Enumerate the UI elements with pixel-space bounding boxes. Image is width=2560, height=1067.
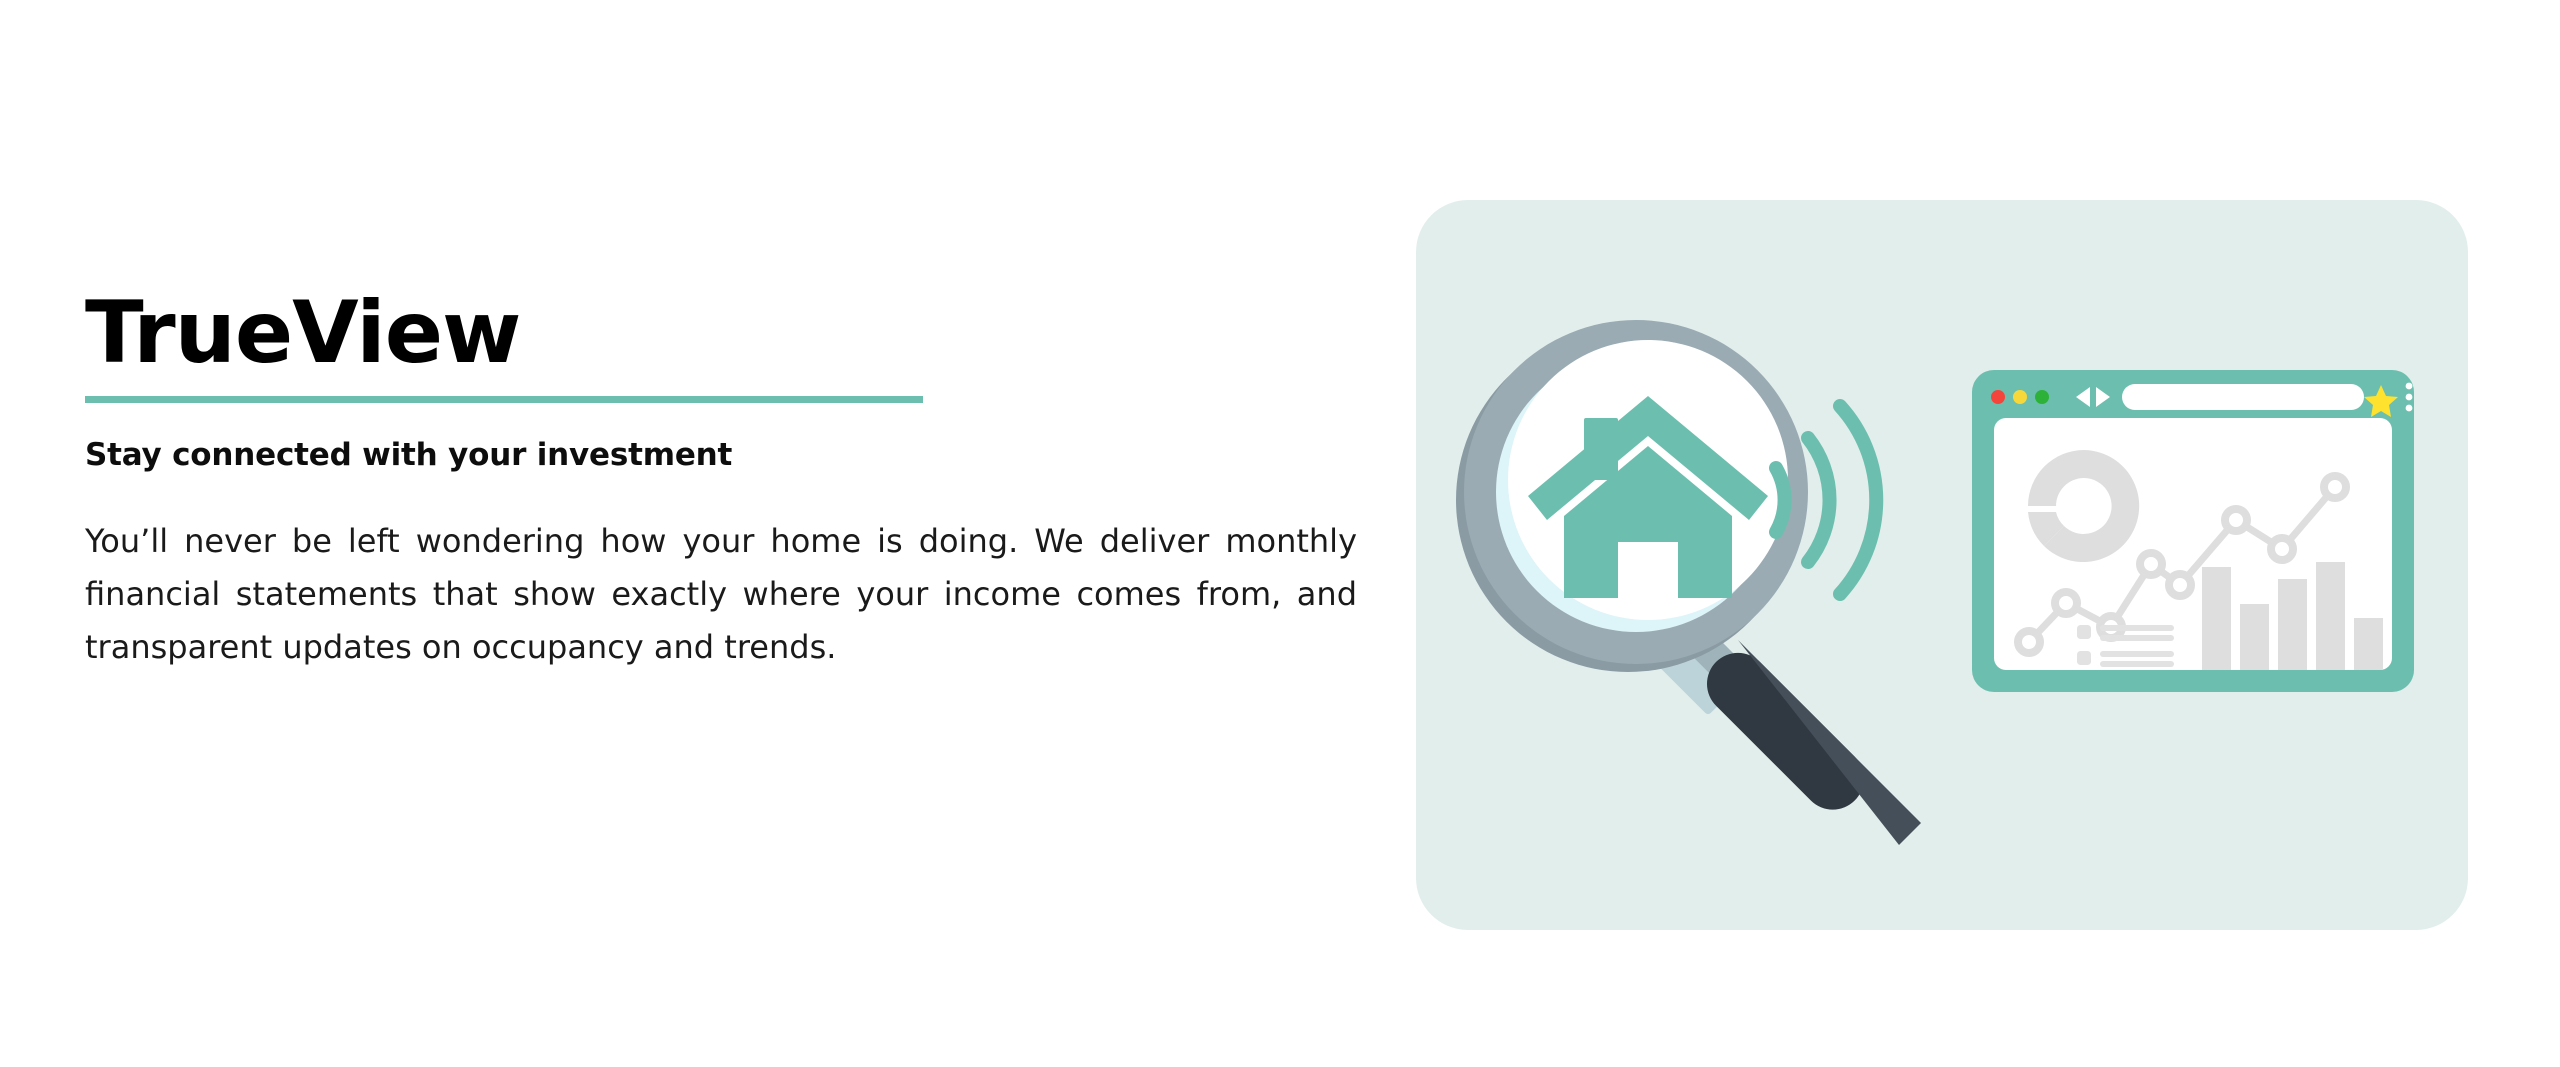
- illustration-panel: [1416, 200, 2468, 930]
- traffic-light-close: [1991, 390, 2005, 404]
- page-title: TrueView: [85, 290, 1357, 378]
- bar: [2354, 618, 2383, 670]
- legend-swatch: [2077, 651, 2091, 665]
- bar: [2316, 562, 2345, 670]
- illustration-graphic: [1416, 200, 2468, 930]
- legend-swatch: [2077, 625, 2091, 639]
- address-bar: [2122, 384, 2364, 410]
- hero-text-column: TrueView Stay connected with your invest…: [85, 290, 1357, 674]
- bar: [2278, 579, 2307, 670]
- signal-arc-middle: [1808, 438, 1830, 562]
- hero-body-paragraph: You’ll never be left wondering how your …: [85, 515, 1357, 674]
- kebab-menu-icon: [2406, 383, 2413, 412]
- signal-arc-outer: [1840, 406, 1876, 594]
- hero-subtitle: Stay connected with your investment: [85, 437, 1357, 473]
- bar: [2202, 567, 2231, 670]
- title-accent-rule: [85, 396, 923, 403]
- legend-line: [2100, 625, 2174, 631]
- magnifier-handle: [1694, 640, 1921, 845]
- legend-line: [2100, 635, 2174, 641]
- legend-line: [2100, 661, 2174, 667]
- traffic-light-minimize: [2013, 390, 2027, 404]
- bar: [2240, 604, 2269, 670]
- browser-window: [1972, 370, 2414, 692]
- legend-line: [2100, 651, 2174, 657]
- traffic-light-maximize: [2035, 390, 2049, 404]
